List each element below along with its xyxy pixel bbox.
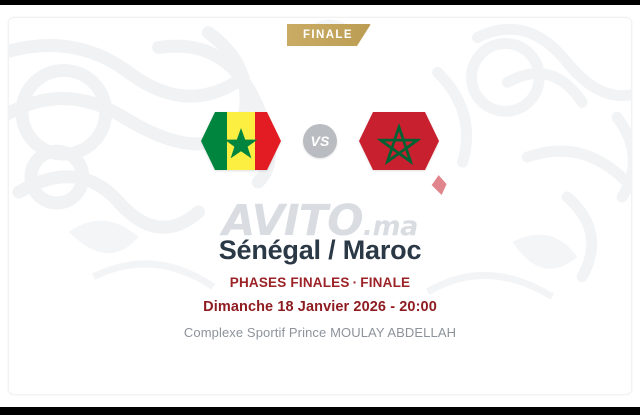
screenshot-canvas: FINALE <box>0 0 640 415</box>
phase-separator: · <box>350 275 361 290</box>
match-teams-row: VS <box>9 104 631 178</box>
match-title: Sénégal / Maroc <box>9 236 631 266</box>
match-venue: Complexe Sportif Prince MOULAY ABDELLAH <box>9 325 631 340</box>
match-datetime: Dimanche 18 Janvier 2026 - 20:00 <box>9 299 631 315</box>
vs-badge-icon: VS <box>303 124 337 158</box>
match-phase: PHASES FINALES·FINALE <box>9 275 631 290</box>
match-info-block: Sénégal / Maroc PHASES FINALES·FINALE Di… <box>9 236 631 340</box>
senegal-flag-icon <box>199 110 283 172</box>
phase-stage: PHASES FINALES <box>230 275 350 290</box>
phase-round: FINALE <box>360 275 410 290</box>
finale-badge: FINALE <box>287 24 371 46</box>
poster-card: FINALE <box>8 17 632 395</box>
morocco-flag-icon <box>357 110 441 172</box>
match-poster: FINALE <box>0 5 640 407</box>
